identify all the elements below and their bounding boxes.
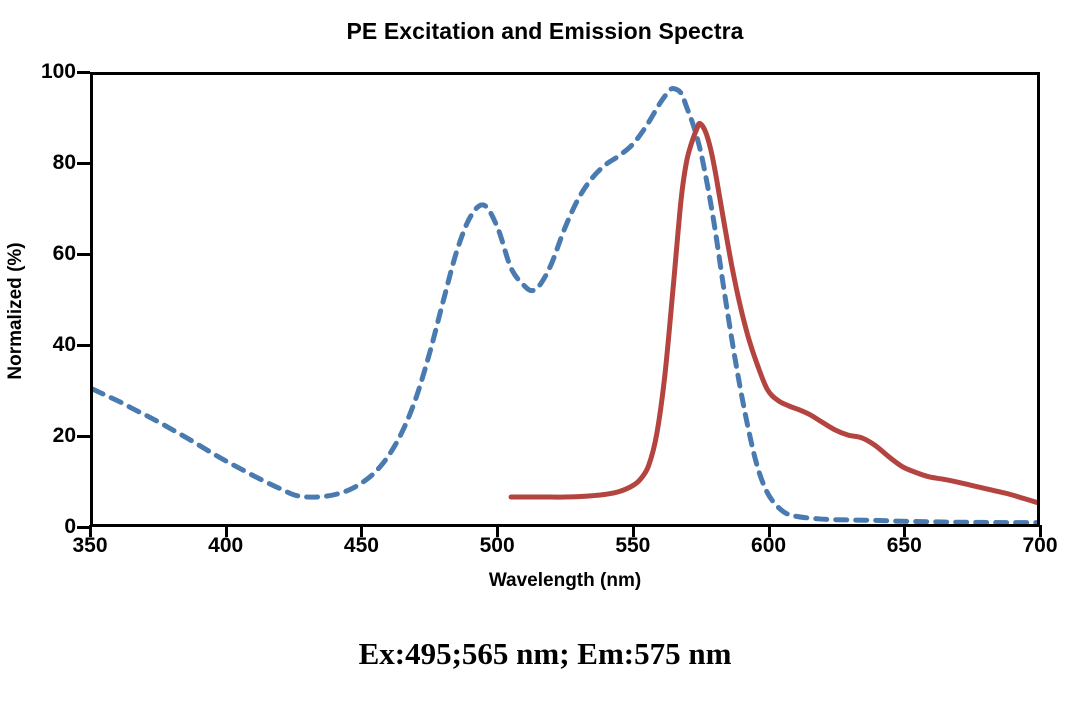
y-tick-mark: [77, 253, 90, 256]
y-tick-label: 100: [24, 60, 76, 84]
chart-caption: Ex:495;565 nm; Em:575 nm: [0, 636, 1090, 672]
y-tick-label: 80: [24, 151, 76, 175]
spectra-plot-svg: [93, 75, 1037, 524]
x-tick-label: 450: [316, 534, 406, 558]
x-tick-label: 700: [995, 534, 1085, 558]
x-axis-title: Wavelength (nm): [90, 570, 1040, 592]
y-tick-mark: [77, 435, 90, 438]
y-tick-mark: [77, 344, 90, 347]
x-tick-label: 400: [181, 534, 271, 558]
y-axis-tick-labels: 020406080100: [14, 0, 76, 704]
series-line-excitation: [93, 88, 1037, 522]
x-tick-label: 500: [452, 534, 542, 558]
y-tick-mark: [77, 71, 90, 74]
y-tick-label: 40: [24, 333, 76, 357]
x-tick-label: 350: [45, 534, 135, 558]
y-tick-label: 20: [24, 424, 76, 448]
x-tick-label: 550: [588, 534, 678, 558]
spectra-figure: PE Excitation and Emission Spectra Norma…: [0, 0, 1090, 704]
x-tick-label: 600: [724, 534, 814, 558]
y-tick-mark: [77, 162, 90, 165]
chart-title: PE Excitation and Emission Spectra: [0, 18, 1090, 45]
series-line-emission: [511, 123, 1037, 502]
y-tick-label: 60: [24, 242, 76, 266]
plot-area: [90, 72, 1040, 527]
x-tick-label: 650: [859, 534, 949, 558]
